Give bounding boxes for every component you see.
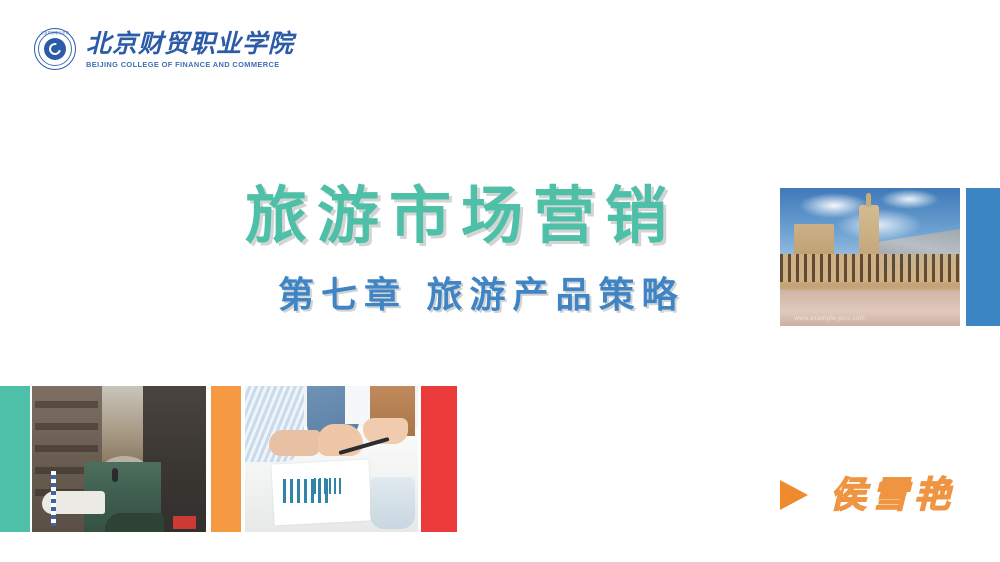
teal-accent-bar	[0, 386, 30, 532]
business-meeting-photo	[245, 386, 418, 532]
college-seal-icon: 北京财贸职业学院	[34, 28, 78, 72]
presenter-name: 侯雪艳	[830, 477, 956, 513]
meeting-bar-chart-secondary	[314, 478, 342, 494]
venice-dark-boat	[105, 513, 164, 532]
venice-far-buildings	[102, 386, 144, 462]
orange-accent-bar	[211, 386, 241, 532]
plaza-de-espana-photo: www.example-pics.com	[780, 188, 960, 326]
seal-core-mark	[44, 38, 66, 60]
page-subtitle: 第七章 旅游产品策略	[278, 277, 758, 315]
photo-arcade-arches	[780, 254, 960, 282]
seal-microtext: 北京财贸职业学院	[34, 30, 76, 35]
meeting-hand-left	[269, 430, 321, 456]
venice-mooring-pole	[51, 471, 56, 526]
photo-watermark: www.example-pics.com	[794, 316, 865, 322]
play-triangle-icon	[780, 480, 808, 510]
red-accent-bar	[421, 386, 457, 532]
page-title: 旅游市场营销	[245, 183, 785, 248]
presenter-credit: 侯雪艳	[780, 472, 956, 518]
logo-wordmark: 北京财贸职业学院 BEIJING COLLEGE OF FINANCE AND …	[86, 31, 294, 68]
logo-name-en: BEIJING COLLEGE OF FINANCE AND COMMERCE	[86, 60, 298, 69]
meeting-water-glass	[370, 477, 415, 530]
institution-logo: 北京财贸职业学院 北京财贸职业学院 BEIJING COLLEGE OF FIN…	[34, 24, 284, 76]
venice-red-cover	[173, 516, 196, 529]
logo-name-cn: 北京财贸职业学院	[86, 31, 294, 57]
venice-canal-photo	[32, 386, 206, 532]
presentation-slide: 北京财贸职业学院 北京财贸职业学院 BEIJING COLLEGE OF FIN…	[0, 0, 1000, 562]
blue-accent-bar	[966, 188, 1000, 326]
venice-gondolier	[112, 468, 118, 482]
